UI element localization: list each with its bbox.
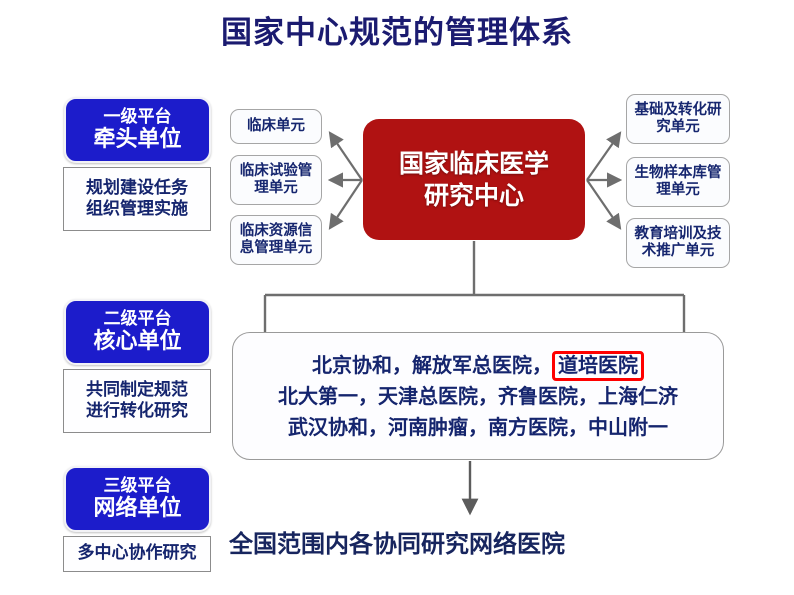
platform-level-label-3: 三级平台 — [104, 478, 172, 496]
hospital-row-1-text: 北京协和，解放军总医院， — [312, 353, 552, 377]
hospital-row-2: 北大第一，天津总医院，齐鲁医院，上海仁济 — [278, 381, 678, 412]
platform-level-label-1: 一级平台 — [104, 109, 172, 127]
platform-desc-line2-2: 进行转化研究 — [86, 401, 188, 422]
left-unit-box-1[interactable]: 临床单元 — [230, 109, 322, 144]
platform-box-level-2[interactable]: 二级平台 核心单位 — [64, 299, 211, 365]
right-unit-box-1[interactable]: 基础及转化研 究单元 — [626, 94, 730, 144]
platform-role-label-1: 牵头单位 — [93, 128, 181, 151]
bottom-caption: 全国范围内各协同研究网络医院 — [0, 524, 794, 559]
right-unit-box-3[interactable]: 教育培训及技 术推广单元 — [626, 218, 730, 268]
center-line2: 研究中心 — [424, 180, 524, 211]
slide-canvas: 国家中心规范的管理体系 一级平台 牵头单位 — [0, 0, 794, 595]
left-unit-1-line1: 临床单元 — [247, 118, 305, 135]
right-unit-3-line1: 教育培训及技 — [635, 226, 722, 243]
platform-desc-line1-1: 规划建设任务 — [86, 178, 188, 199]
left-unit-2-line2: 理单元 — [240, 180, 313, 197]
left-unit-box-3[interactable]: 临床资源信 息管理单元 — [230, 215, 322, 265]
platform-desc-level-1: 规划建设任务 组织管理实施 — [63, 167, 211, 231]
right-unit-1-line2: 究单元 — [635, 119, 722, 136]
platform-role-label-3: 网络单位 — [93, 497, 181, 520]
platform-box-level-1[interactable]: 一级平台 牵头单位 — [64, 97, 211, 163]
highlighted-hospital-daopei[interactable]: 道培医院 — [552, 351, 644, 381]
hospital-row-1: 北京协和，解放军总医院，道培医院 — [312, 350, 644, 381]
page-title: 国家中心规范的管理体系 — [0, 16, 794, 50]
platform-box-level-3[interactable]: 三级平台 网络单位 — [64, 466, 211, 532]
right-unit-3-line2: 术推广单元 — [635, 243, 722, 260]
right-unit-box-2[interactable]: 生物样本库管 理单元 — [626, 157, 730, 207]
right-unit-2-line2: 理单元 — [635, 182, 722, 199]
center-node-national-clinical-research-center[interactable]: 国家临床医学 研究中心 — [363, 119, 585, 240]
left-unit-2-line1: 临床试验管 — [240, 163, 313, 180]
platform-role-label-2: 核心单位 — [93, 330, 181, 353]
right-unit-1-line1: 基础及转化研 — [635, 102, 722, 119]
core-hospital-list-box[interactable]: 北京协和，解放军总医院，道培医院 北大第一，天津总医院，齐鲁医院，上海仁济 武汉… — [232, 332, 724, 460]
center-line1: 国家临床医学 — [399, 148, 549, 179]
right-unit-2-line1: 生物样本库管 — [635, 165, 722, 182]
platform-desc-line1-2: 共同制定规范 — [86, 380, 188, 401]
left-unit-box-2[interactable]: 临床试验管 理单元 — [230, 155, 322, 205]
platform-desc-line2-1: 组织管理实施 — [86, 199, 188, 220]
platform-level-label-2: 二级平台 — [104, 311, 172, 329]
left-unit-3-line1: 临床资源信 — [240, 223, 313, 240]
left-unit-3-line2: 息管理单元 — [240, 240, 313, 257]
hospital-row-3: 武汉协和，河南肿瘤，南方医院，中山附一 — [288, 412, 668, 443]
platform-desc-level-2: 共同制定规范 进行转化研究 — [63, 369, 211, 433]
